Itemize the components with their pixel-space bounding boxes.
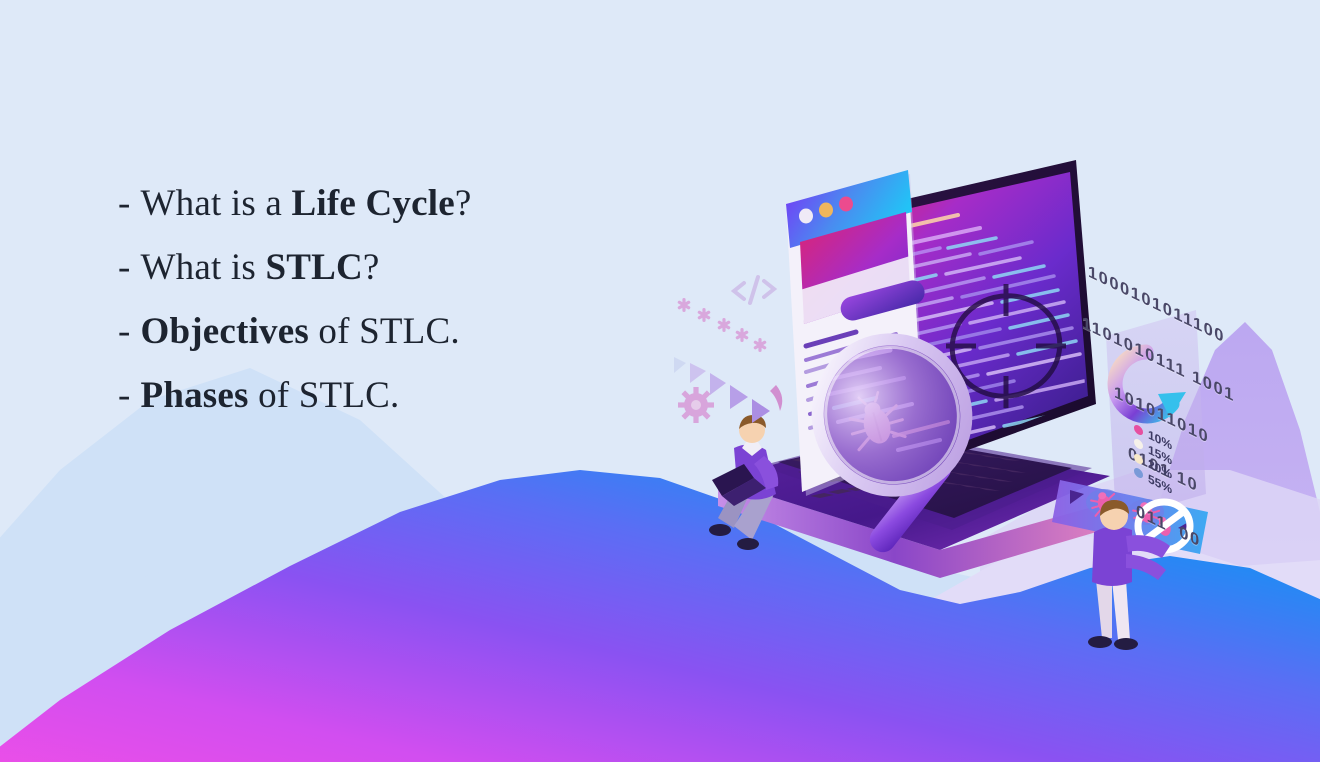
bullet-list: -What is a Life Cycle? -What is STLC? -O… [118, 172, 638, 428]
floating-code-symbols [672, 255, 792, 425]
bullet-item-3: -Phases of STLC. [118, 364, 638, 428]
bullet-text-post: of STLC. [309, 311, 460, 352]
bullet-text-post: ? [455, 183, 472, 224]
browser-dot-2 [819, 203, 833, 218]
bullet-text-pre: What is [141, 247, 266, 288]
bullet-item-0: -What is a Life Cycle? [118, 172, 638, 236]
binary-line-4: 011 00 [1136, 502, 1235, 568]
browser-dot-3 [839, 197, 853, 212]
binary-line-3: 0101 10 [1128, 444, 1235, 514]
percentage-legend: 10% 15% 20% 55% [1152, 429, 1172, 497]
bullet-item-1: -What is STLC? [118, 236, 638, 300]
bullet-text-strong: Phases [141, 375, 249, 416]
bullet-text-strong: Objectives [141, 311, 309, 352]
tester-leg-back [1096, 580, 1112, 638]
tester-leg-front [1112, 580, 1130, 640]
bullet-item-2: -Objectives of STLC. [118, 300, 638, 364]
seated-developer-with-laptop [709, 415, 778, 550]
bullet-text-post: of STLC. [249, 375, 400, 416]
bullet-text-post: ? [363, 247, 380, 288]
bullet-text-strong: STLC [265, 247, 362, 288]
angle-bracket-icon [734, 277, 774, 303]
bullet-text-pre: What is a [141, 183, 292, 224]
slide-canvas: -What is a Life Cycle? -What is STLC? -O… [0, 0, 1320, 762]
bullet-dash: - [118, 183, 131, 224]
bullet-dash: - [118, 247, 131, 288]
browser-dot-1 [799, 209, 813, 224]
dev-shoe-front [737, 538, 759, 550]
bullet-dash: - [118, 375, 131, 416]
tester-shoe-front [1114, 638, 1138, 650]
asterisk-row-icon [677, 298, 767, 352]
gear-icon [678, 387, 714, 423]
bullet-dash: - [118, 311, 131, 352]
tester-shoe-back [1088, 636, 1112, 648]
dev-shoe-back [709, 524, 731, 536]
bullet-text-strong: Life Cycle [292, 183, 455, 224]
